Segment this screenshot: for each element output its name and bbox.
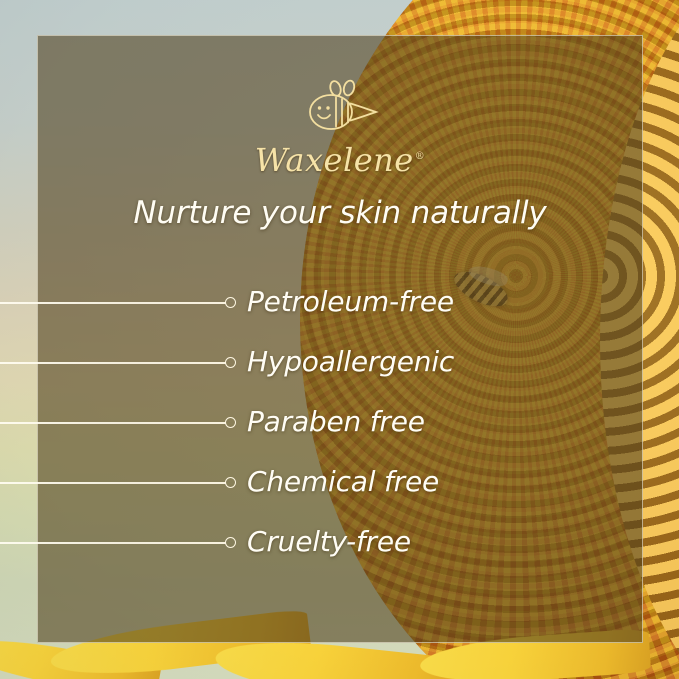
feature-item-chemical-free: Chemical free — [0, 470, 679, 496]
feature-label: Petroleum-free — [247, 285, 454, 318]
headline: Nurture your skin naturally — [38, 195, 642, 231]
feature-label: Paraben free — [247, 405, 425, 438]
circle-marker-icon — [225, 297, 236, 308]
brand-wordmark: Waxelene® — [255, 141, 425, 179]
circle-marker-icon — [225, 477, 236, 488]
registered-trademark-icon: ® — [415, 151, 426, 162]
feature-label: Hypoallergenic — [247, 345, 454, 378]
product-infographic: Waxelene® Nurture your skin naturally Pe… — [0, 0, 679, 679]
leader-line — [0, 302, 226, 304]
leader-line — [0, 542, 226, 544]
feature-item-cruelty-free: Cruelty-free — [0, 530, 679, 556]
circle-marker-icon — [225, 417, 236, 428]
brand-wordmark-text: Waxelene — [255, 141, 414, 179]
feature-item-hypoallergenic: Hypoallergenic — [0, 350, 679, 376]
brand-logo: Waxelene® — [38, 79, 642, 179]
leader-line — [0, 482, 226, 484]
feature-label: Cruelty-free — [247, 525, 411, 558]
circle-marker-icon — [225, 537, 236, 548]
circle-marker-icon — [225, 357, 236, 368]
feature-label: Chemical free — [247, 465, 439, 498]
feature-item-paraben-free: Paraben free — [0, 410, 679, 436]
leader-line — [0, 422, 226, 424]
feature-item-petroleum-free: Petroleum-free — [0, 290, 679, 316]
bee-icon — [294, 79, 386, 137]
leader-line — [0, 362, 226, 364]
